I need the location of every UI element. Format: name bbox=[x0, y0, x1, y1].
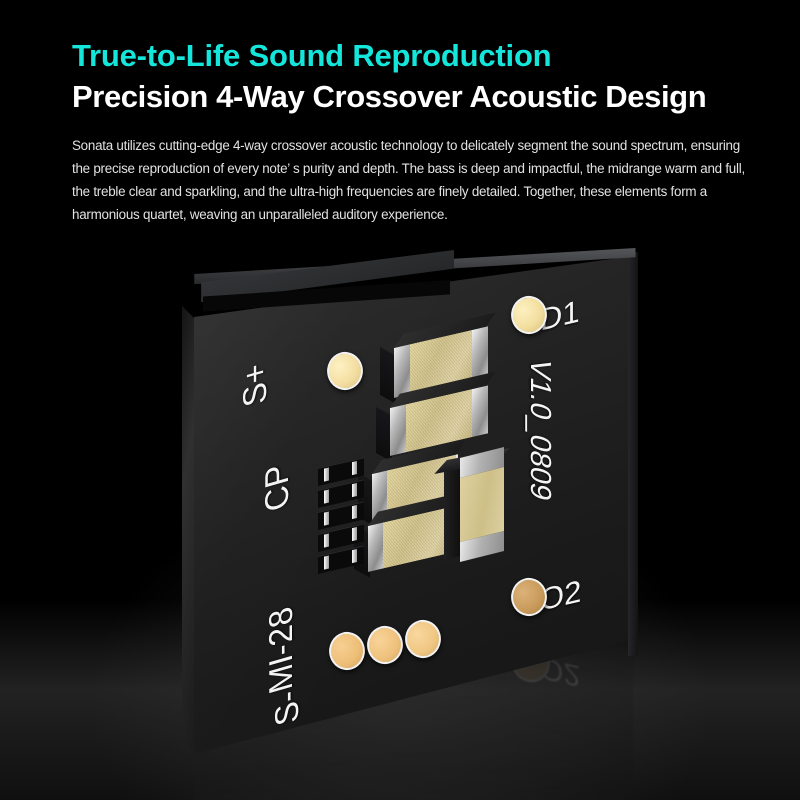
ladder-pin bbox=[352, 461, 357, 475]
text-block: True-to-Life Sound Reproduction Precisio… bbox=[72, 38, 762, 226]
pcb-board: S+ CP MI-28 S- D1 V1.0_0809 O2 bbox=[0, 236, 800, 800]
ladder-pin bbox=[324, 511, 329, 525]
capacitor-terminal-right bbox=[472, 326, 488, 380]
capacitor-upright-body bbox=[460, 467, 504, 542]
silk-label-model: MI-28 bbox=[262, 603, 300, 698]
ladder-pin bbox=[324, 533, 329, 547]
board-left-edge bbox=[182, 258, 196, 758]
headline-primary: True-to-Life Sound Reproduction bbox=[72, 38, 762, 75]
ladder-pin bbox=[324, 489, 329, 503]
capacitor-terminal-right bbox=[472, 385, 488, 437]
resistor-array bbox=[318, 454, 378, 588]
ladder-pin bbox=[352, 527, 357, 541]
ladder-pin bbox=[352, 549, 357, 563]
ladder-pin bbox=[352, 483, 357, 497]
ladder-pin bbox=[324, 555, 329, 569]
capacitor-upright-front bbox=[460, 447, 504, 562]
ladder-pin bbox=[352, 505, 357, 519]
board-right-edge bbox=[628, 252, 638, 656]
ladder-pin bbox=[324, 467, 329, 481]
headline-secondary: Precision 4-Way Crossover Acoustic Desig… bbox=[72, 79, 762, 116]
smd-capacitor-upright bbox=[460, 458, 530, 578]
product-feature-slide: True-to-Life Sound Reproduction Precisio… bbox=[0, 0, 800, 800]
capacitor-terminal-left bbox=[390, 404, 406, 456]
body-paragraph: Sonata utilizes cutting-edge 4-way cross… bbox=[72, 135, 756, 226]
capacitor-terminal-left bbox=[394, 344, 410, 398]
pcb-stage: S- O2 S+ CP MI-28 S- D1 V1.0_0809 bbox=[0, 236, 800, 800]
